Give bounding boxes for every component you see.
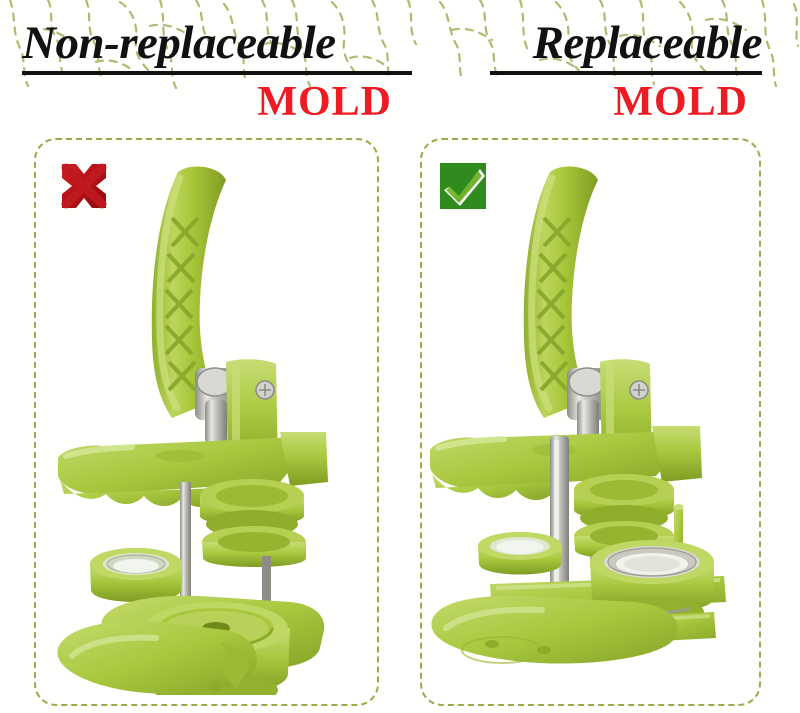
- heading-replaceable: Replaceable MOLD: [410, 20, 762, 123]
- column-title: Replaceable: [410, 20, 762, 67]
- product-image-non-replaceable: [40, 150, 380, 695]
- green-check-icon: [437, 160, 489, 212]
- column-subtitle: MOLD: [410, 81, 762, 123]
- comparison-infographic: Non-replaceable MOLD Replaceable MOLD: [0, 0, 800, 713]
- title-underline: [22, 71, 412, 75]
- column-subtitle: MOLD: [22, 81, 414, 123]
- product-image-replaceable: [424, 150, 764, 695]
- title-underline: [490, 71, 762, 75]
- column-title: Non-replaceable: [22, 20, 414, 67]
- heading-non-replaceable: Non-replaceable MOLD: [22, 20, 414, 123]
- red-x-icon: [58, 160, 110, 212]
